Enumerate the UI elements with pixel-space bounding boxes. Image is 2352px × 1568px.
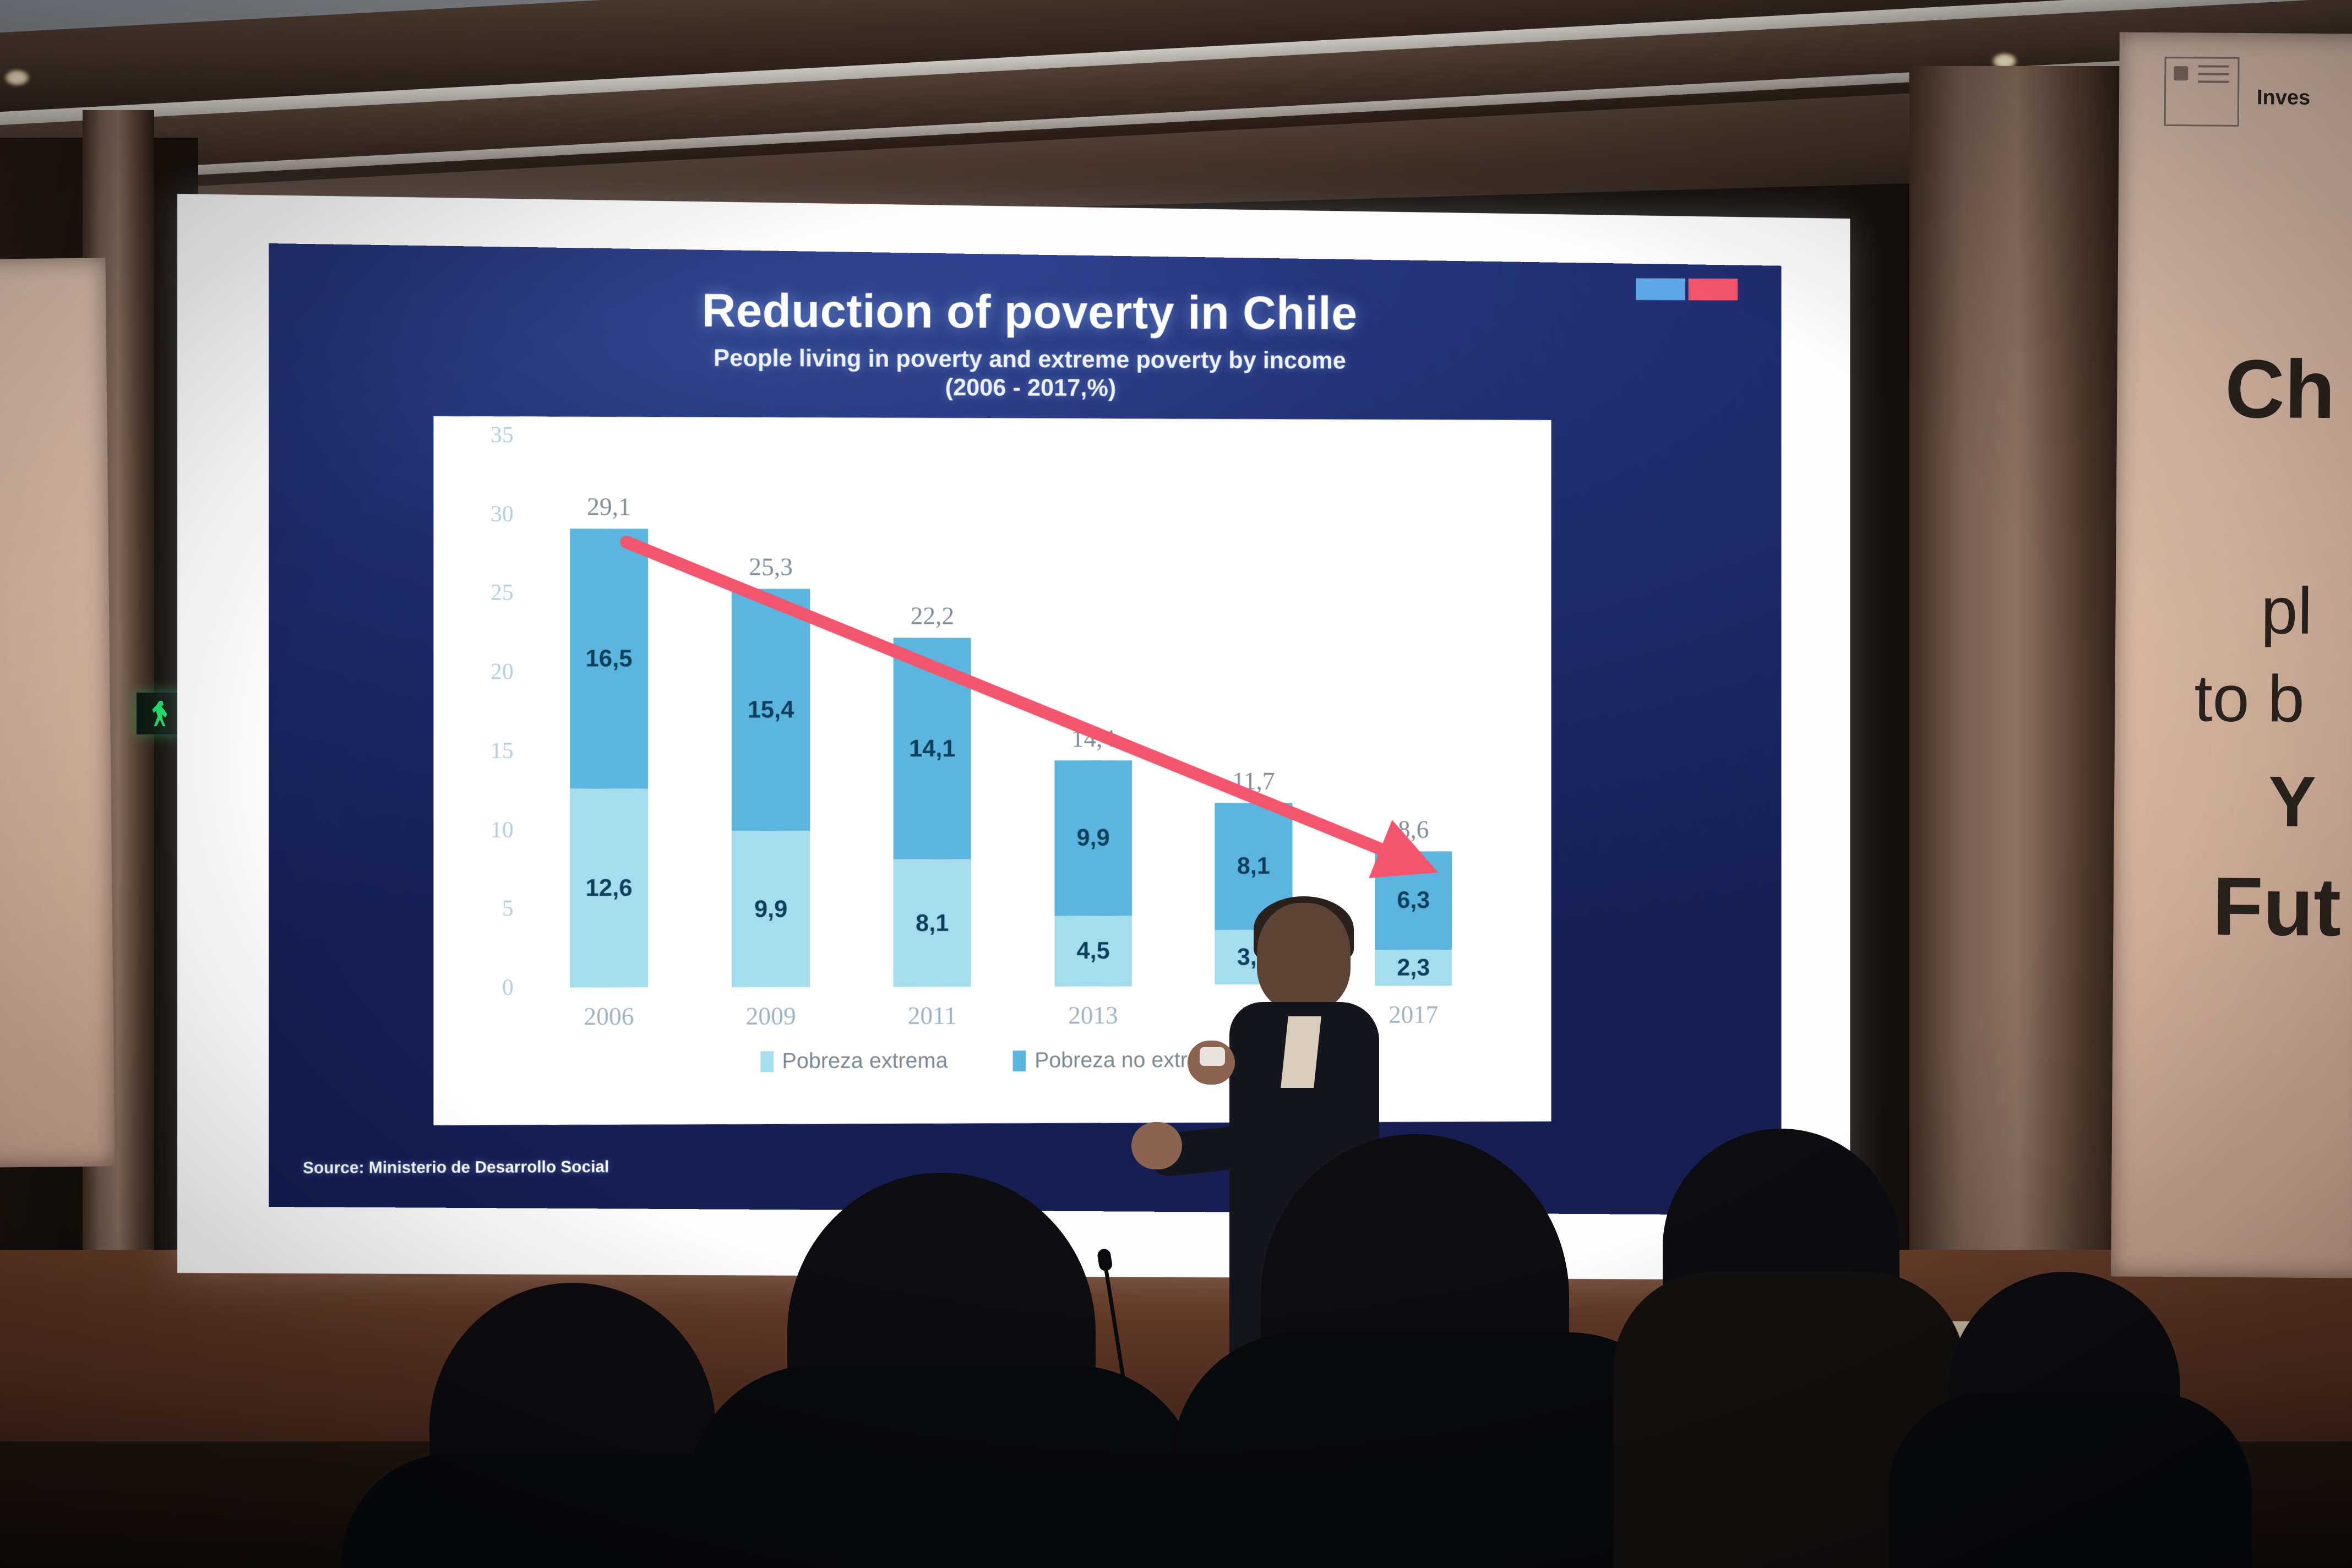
banner-right-logo-icon — [2164, 57, 2240, 127]
bar-segment-pobreza-no-extrema: 14,1 — [893, 638, 971, 859]
slide-subtitle: People living in poverty and extreme pov… — [269, 342, 1782, 405]
bar-segment-pobreza-extrema: 12,6 — [570, 789, 649, 988]
bar-segment-label: 2,3 — [1397, 954, 1430, 982]
legend-item[interactable]: Pobreza extrema — [760, 1049, 948, 1074]
bar-segment-label: 14,1 — [909, 735, 956, 763]
y-axis-tick-label: 10 — [491, 816, 514, 843]
bar-total-label: 22,2 — [878, 601, 987, 630]
banner-right-line-5: Fut — [2212, 859, 2341, 955]
bar-segment-pobreza-extrema: 9,9 — [732, 831, 810, 987]
bar-segment-label: 9,9 — [754, 895, 788, 923]
slide-title: Reduction of poverty in Chile — [269, 281, 1782, 342]
presentation-slide: Reduction of poverty in Chile People liv… — [269, 243, 1782, 1215]
bar-segment-label: 15,4 — [748, 696, 794, 724]
banner-right: Inves Ch pl to b Y Fut — [2111, 32, 2352, 1278]
bar-total-label: 29,1 — [554, 492, 663, 521]
banner-right-line-2: pl — [2261, 573, 2312, 649]
legend-swatch — [1013, 1050, 1026, 1071]
y-axis-tick-label: 25 — [491, 580, 514, 606]
banner-left: aChile th Fund ile ent nities tin n Hub — [0, 258, 115, 1168]
stacked-bar: 9,94,5 — [1054, 760, 1132, 987]
bar-segment-label: 8,1 — [916, 910, 949, 937]
bar-segment-pobreza-no-extrema: 6,3 — [1375, 851, 1452, 950]
bar-segment-pobreza-extrema: 4,5 — [1054, 916, 1132, 987]
bar-column: 14,49,94,52013 — [1039, 437, 1147, 986]
x-axis-tick-label: 2013 — [1039, 1000, 1147, 1030]
stacked-bar: 14,18,1 — [893, 638, 971, 987]
bar-segment-pobreza-no-extrema: 16,5 — [570, 529, 649, 789]
ceiling-light-left — [4, 69, 30, 86]
bar-total-label: 25,3 — [716, 552, 825, 581]
y-axis-tick-label: 15 — [491, 738, 514, 764]
x-axis-tick-label: 2009 — [716, 1001, 825, 1031]
bar-column: 29,116,512,62006 — [554, 435, 663, 988]
y-axis-tick-label: 35 — [491, 422, 514, 448]
bar-segment-pobreza-no-extrema: 15,4 — [732, 589, 810, 831]
presenter-head — [1257, 903, 1351, 1011]
bar-segment-label: 4,5 — [1076, 938, 1109, 965]
stacked-bar: 15,49,9 — [732, 589, 810, 987]
bar-segment-label: 9,9 — [1076, 824, 1109, 852]
photo-scene: aChile th Fund ile ent nities tin n Hub … — [0, 0, 2352, 1568]
bar-segment-pobreza-extrema: 2,3 — [1375, 950, 1452, 986]
banner-right-line-4: Y — [2268, 760, 2317, 843]
banner-right-line-3: to b — [2194, 660, 2305, 737]
bar-segment-label: 8,1 — [1237, 853, 1270, 880]
slide-source-note: Source: Ministerio de Desarrollo Social — [303, 1158, 609, 1178]
slide-subtitle-line-2: (2006 - 2017,%) — [269, 371, 1782, 405]
bar-segment-label: 12,6 — [585, 874, 632, 902]
banner-right-line-1: Ch — [2225, 341, 2335, 437]
audience-body-2 — [688, 1365, 1200, 1568]
bar-segment-pobreza-extrema: 8,1 — [893, 859, 971, 987]
stacked-bar: 6,32,3 — [1375, 851, 1452, 986]
pillar-center-right — [1909, 66, 2124, 1310]
bar-total-label: 8,6 — [1360, 815, 1467, 844]
legend-label: Pobreza extrema — [782, 1049, 948, 1074]
y-axis-tick-label: 0 — [502, 974, 514, 1001]
bar-total-label: 14,4 — [1039, 724, 1147, 753]
banner-right-logo-text: Inves — [2257, 86, 2310, 110]
legend-swatch — [760, 1051, 774, 1072]
bar-segment-pobreza-no-extrema: 9,9 — [1054, 760, 1132, 916]
running-man-icon — [152, 701, 168, 726]
bar-segment-label: 6,3 — [1397, 887, 1430, 914]
bar-column: 25,315,49,92009 — [716, 436, 825, 988]
presenter-clicker — [1200, 1047, 1225, 1066]
y-axis-tick-label: 30 — [491, 501, 514, 527]
x-axis-tick-label: 2006 — [554, 1001, 663, 1031]
presenter-hand-left — [1131, 1122, 1182, 1169]
y-axis-tick-label: 5 — [502, 896, 514, 922]
stacked-bar: 16,512,6 — [570, 529, 649, 988]
bar-segment-label: 16,5 — [585, 645, 632, 672]
bar-column: 22,214,18,12011 — [878, 437, 987, 987]
y-axis-tick-label: 20 — [491, 658, 514, 685]
audience-body-5 — [1888, 1393, 2252, 1568]
x-axis-tick-label: 2011 — [878, 1001, 987, 1030]
bar-total-label: 11,7 — [1200, 766, 1307, 796]
